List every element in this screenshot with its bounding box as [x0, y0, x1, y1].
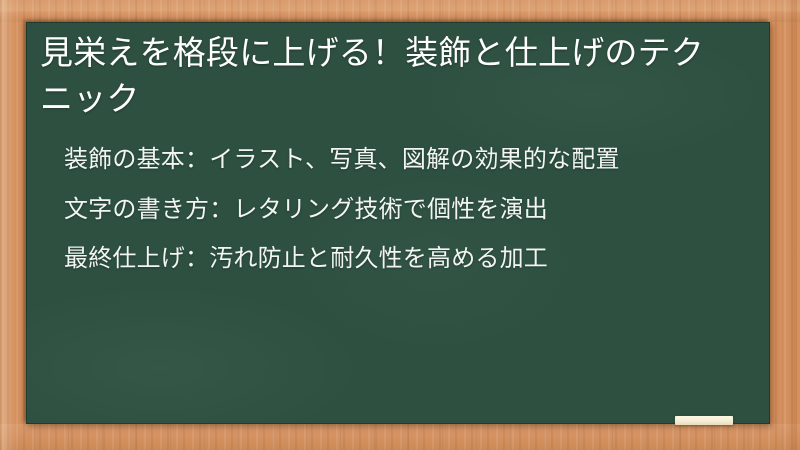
chalkboard-surface: 見栄えを格段に上げる！装飾と仕上げのテクニック 装飾の基本：イラスト、写真、図解… — [26, 22, 770, 424]
frame-top-rail-highlight — [0, 0, 800, 22]
list-item: 装飾の基本：イラスト、写真、図解の効果的な配置 — [64, 143, 736, 177]
frame-bottom-ledge — [0, 424, 800, 450]
chalk-stick-icon — [675, 416, 733, 425]
page-title: 見栄えを格段に上げる！装飾と仕上げのテクニック — [34, 30, 736, 121]
slide-content: 見栄えを格段に上げる！装飾と仕上げのテクニック 装飾の基本：イラスト、写真、図解… — [26, 22, 770, 276]
list-item: 最終仕上げ：汚れ防止と耐久性を高める加工 — [64, 242, 736, 276]
bullet-list: 装飾の基本：イラスト、写真、図解の効果的な配置 文字の書き方：レタリング技術で個… — [34, 143, 736, 276]
list-item: 文字の書き方：レタリング技術で個性を演出 — [64, 193, 736, 227]
frame-right-rail-shadow — [786, 0, 797, 450]
frame-left-rail-highlight — [2, 0, 16, 450]
chalkboard-slide: 見栄えを格段に上げる！装飾と仕上げのテクニック 装飾の基本：イラスト、写真、図解… — [0, 0, 800, 450]
